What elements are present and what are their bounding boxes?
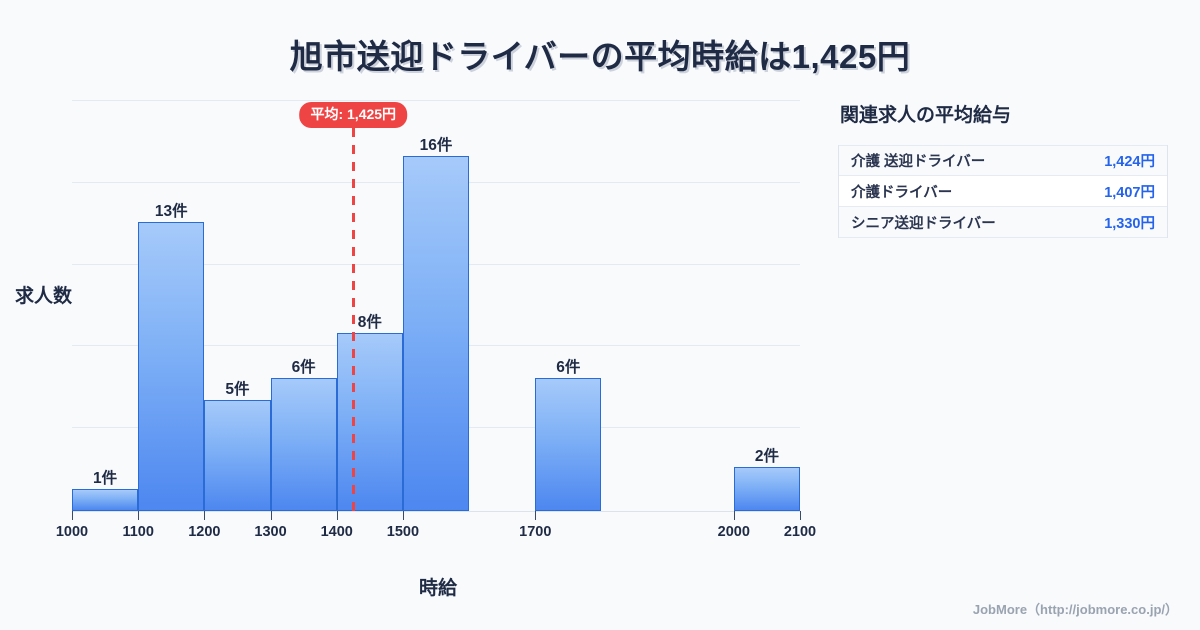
x-axis-tick [734,511,735,520]
x-axis-tick [403,511,404,520]
x-axis-tick [72,511,73,520]
x-axis-title: 時給 [0,573,876,600]
related-salary-row[interactable]: 介護 送迎ドライバー1,424円 [839,145,1167,176]
histogram-bar [204,400,270,511]
related-salary-job-name: 介護 送迎ドライバー [851,150,985,171]
x-axis-tick-label: 1100 [122,524,153,540]
x-axis-tick-label: 2000 [718,524,750,540]
chart-page: 旭市送迎ドライバーの平均時給は1,425円 求人数 時給 1件13件5件6件8件… [0,0,1200,630]
related-salary-table: 介護 送迎ドライバー1,424円介護ドライバー1,407円シニア送迎ドライバー1… [838,145,1168,238]
histogram-plot-area: 1件13件5件6件8件16件6件2件1000110012001300140015… [72,100,800,512]
footer-attribution: JobMore（http://jobmore.co.jp/） [973,599,1178,618]
average-line [352,128,355,511]
related-salary-row[interactable]: シニア送迎ドライバー1,330円 [839,207,1167,238]
bar-value-label: 8件 [358,310,382,332]
x-axis-tick-label: 2100 [784,524,816,540]
x-axis-tick [204,511,205,520]
x-axis-tick-label: 1200 [188,524,220,540]
bar-value-label: 6件 [556,355,580,377]
histogram-bar [138,222,204,511]
y-axis-title: 求人数 [15,281,72,308]
panel-title: 関連求人の平均給与 [840,100,1168,127]
related-salary-job-name: 介護ドライバー [851,181,952,202]
related-salary-value: 1,424円 [1104,150,1155,171]
related-salary-job-name: シニア送迎ドライバー [851,212,996,233]
related-salary-value: 1,407円 [1104,181,1155,202]
x-axis-baseline [72,511,800,512]
bar-value-label: 1件 [93,466,117,488]
histogram-bar [72,489,138,511]
histogram-bar [734,467,800,511]
x-axis-tick [138,511,139,520]
related-salary-row[interactable]: 介護ドライバー1,407円 [839,176,1167,207]
page-title: 旭市送迎ドライバーの平均時給は1,425円 [0,30,1200,78]
x-axis-tick-label: 1000 [56,524,88,540]
histogram-bar [403,156,469,511]
x-axis-tick [337,511,338,520]
x-axis-tick-label: 1700 [519,524,551,540]
x-axis-tick [800,511,801,520]
x-axis-tick [271,511,272,520]
x-axis-tick-label: 1300 [254,524,286,540]
histogram-bar [337,333,403,511]
bar-value-label: 2件 [755,444,779,466]
average-badge: 平均: 1,425円 [299,102,407,128]
related-salary-value: 1,330円 [1104,212,1155,233]
histogram-bar [535,378,601,511]
x-axis-tick [535,511,536,520]
bar-value-label: 6件 [292,355,316,377]
x-axis-tick-label: 1400 [321,524,353,540]
bar-value-label: 5件 [225,377,249,399]
histogram-bar [271,378,337,511]
related-salary-panel: 関連求人の平均給与 介護 送迎ドライバー1,424円介護ドライバー1,407円シ… [838,100,1168,238]
gridline [72,100,800,101]
bar-value-label: 16件 [420,133,453,155]
bar-value-label: 13件 [155,199,188,221]
x-axis-tick-label: 1500 [387,524,419,540]
